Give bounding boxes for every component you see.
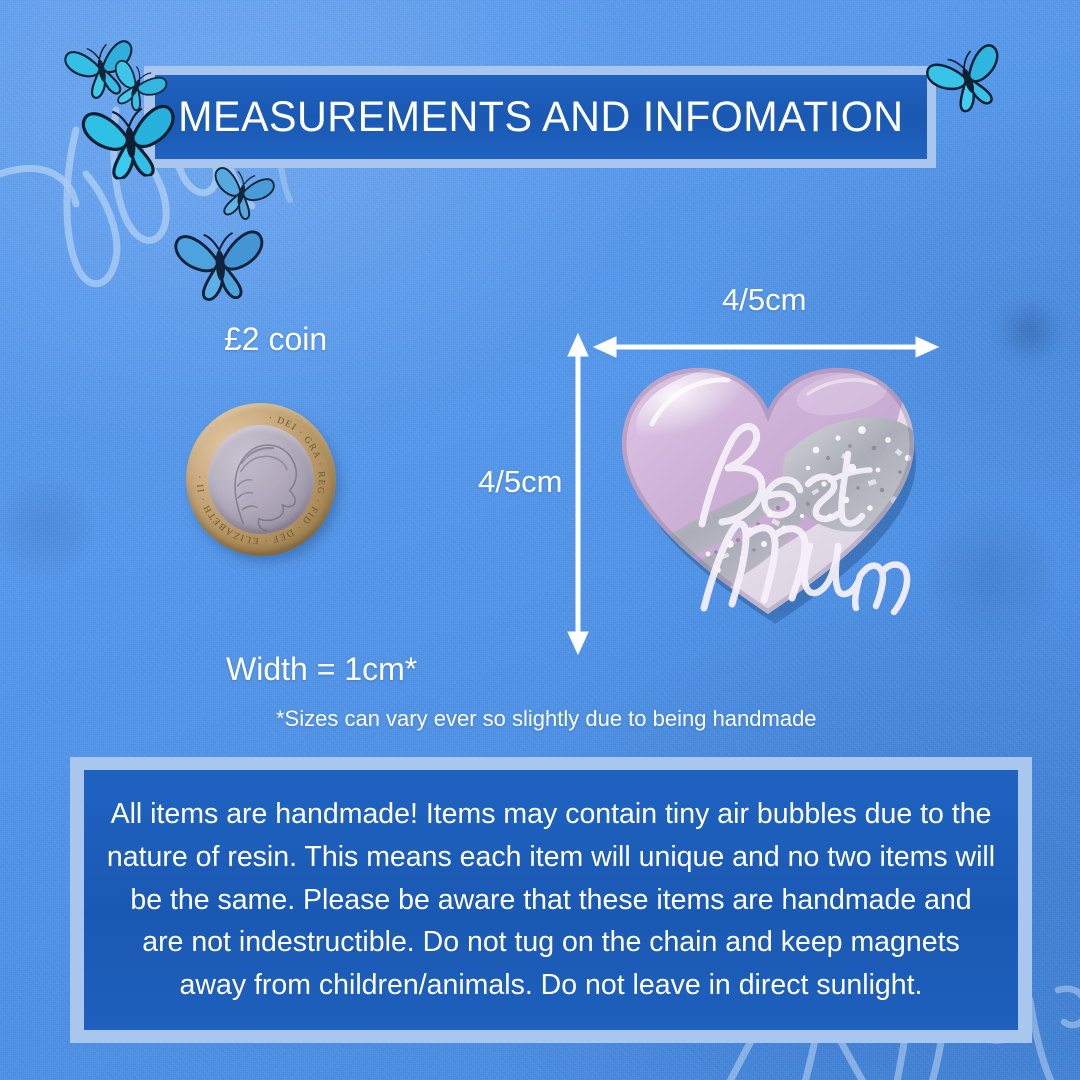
- header-banner: MEASUREMENTS AND INFOMATION: [155, 75, 927, 159]
- size-variation-footnote: *Sizes can vary ever so slightly due to …: [276, 707, 817, 731]
- background-smudge: [1000, 300, 1060, 362]
- infographic-canvas: MEASUREMENTS AND INFOMATION £2 coin · DE…: [0, 0, 1080, 1080]
- coin-inner-disc: [202, 419, 320, 540]
- heart-pendant: [612, 358, 934, 630]
- background-smudge: [930, 500, 1050, 650]
- thickness-label: Width = 1cm*: [226, 652, 417, 687]
- coin-label: £2 coin: [224, 322, 327, 357]
- disclaimer-text: All items are handmade! Items may contai…: [106, 793, 996, 1007]
- width-dimension-label: 4/5cm: [722, 283, 806, 317]
- page-title: MEASUREMENTS AND INFOMATION: [178, 96, 903, 139]
- queen-profile-icon: [202, 419, 320, 540]
- background-smudge: [0, 470, 90, 580]
- height-dimension-label: 4/5cm: [478, 465, 562, 499]
- disclaimer-box: All items are handmade! Items may contai…: [84, 770, 1018, 1030]
- reference-coin: · DEI · GRA · REG · FID · DEF · ELIZABET…: [177, 394, 345, 564]
- heart-resin-body: [612, 358, 934, 630]
